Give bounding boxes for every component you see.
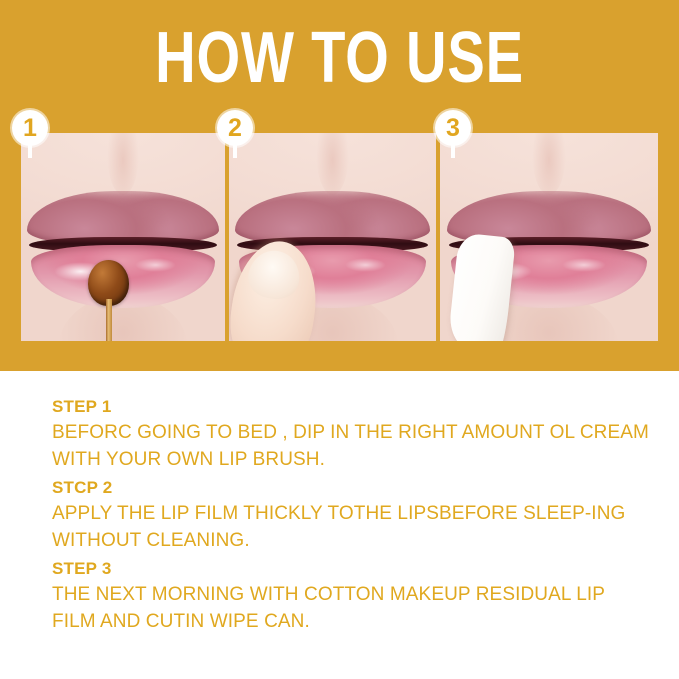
step-1-body: BEFORC GOING TO BED , DIP IN THE RIGHT A… (52, 419, 652, 473)
lip-gloss-highlight-secondary (562, 258, 606, 273)
step-3-body: THE NEXT MORNING WITH COTTON MAKEUP RESI… (52, 581, 652, 635)
step-3-heading: STEP 3 (52, 557, 652, 581)
step-2-heading: STCP 2 (52, 476, 652, 500)
instruction-step-2: STCP 2 APPLY THE LIP FILM THICKLY TOTHE … (52, 476, 652, 554)
photo-panel-step-2 (229, 133, 436, 341)
step-badge-1: 1 (12, 110, 48, 146)
instruction-step-3: STEP 3 THE NEXT MORNING WITH COTTON MAKE… (52, 557, 652, 635)
photo-strip (21, 133, 658, 341)
photo-panel-step-3 (440, 133, 658, 341)
page-title: HOW TO USE (75, 22, 605, 94)
step-2-body: APPLY THE LIP FILM THICKLY TOTHE LIPSBEF… (52, 500, 652, 554)
photo-panel-step-1 (21, 133, 225, 341)
step-1-heading: STEP 1 (52, 395, 652, 419)
fingernail (245, 247, 303, 302)
instruction-step-1: STEP 1 BEFORC GOING TO BED , DIP IN THE … (52, 395, 652, 473)
instructions-list: STEP 1 BEFORC GOING TO BED , DIP IN THE … (52, 395, 652, 638)
lip-brush-applicator-handle (106, 299, 113, 341)
step-badge-2: 2 (217, 110, 253, 146)
step-badge-3: 3 (435, 110, 471, 146)
